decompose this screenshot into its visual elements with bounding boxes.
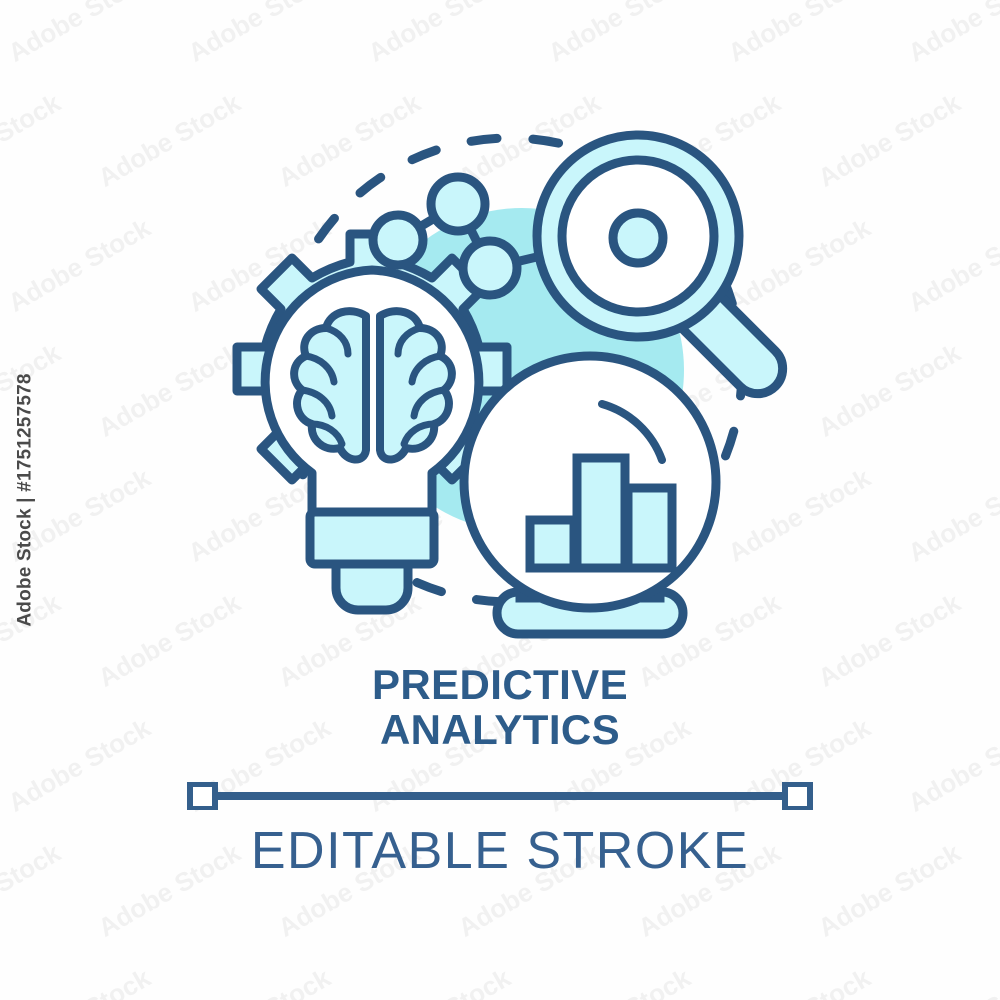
page-title: PREDICTIVE ANALYTICS: [0, 662, 1000, 752]
watermark-text: Adobe Stock: [3, 962, 156, 1000]
watermark-text: Adobe Stock: [543, 962, 696, 1000]
watermark-text: Adobe Stock: [813, 87, 966, 193]
watermark-text: Adobe Stock: [903, 212, 1000, 318]
data-node-1: [373, 215, 423, 265]
predictive-analytics-illustration: [200, 120, 820, 660]
watermark-text: Adobe Stock: [723, 0, 876, 69]
chart-bar-1: [530, 520, 574, 568]
watermark-text: Adobe Stock: [813, 337, 966, 443]
watermark-text: Adobe Stock: [3, 462, 156, 568]
watermark-text: Adobe Stock: [0, 87, 66, 193]
watermark-text: Adobe Stock: [543, 0, 696, 69]
watermark-text: Adobe Stock: [0, 337, 66, 443]
stroke-handle-left[interactable]: [190, 784, 215, 809]
watermark-text: Adobe Stock: [903, 462, 1000, 568]
watermark-text: Adobe Stock: [183, 0, 336, 69]
watermark-text: Adobe Stock: [3, 212, 156, 318]
chart-bar-3: [628, 488, 672, 568]
title-line-2: ANALYTICS: [0, 707, 1000, 752]
lightbulb-collar: [310, 512, 434, 564]
watermark-text: Adobe Stock: [3, 0, 156, 69]
watermark-text: Adobe Stock: [903, 0, 1000, 69]
watermark-text: Adobe Stock: [903, 962, 1000, 1000]
editable-stroke-caption: EDITABLE STROKE: [0, 822, 1000, 880]
watermark-text: Adobe Stock: [363, 962, 516, 1000]
crystal-ball-with-bar-chart: [464, 356, 716, 634]
title-line-1: PREDICTIVE: [0, 662, 1000, 707]
watermark-text: Adobe Stock: [723, 962, 876, 1000]
watermark-text: Adobe Stock: [993, 337, 1000, 443]
data-node-3: [463, 241, 517, 295]
watermark-text: Adobe Stock: [993, 87, 1000, 193]
magnifier-target-node: [613, 213, 663, 263]
watermark-text: Adobe Stock: [183, 962, 336, 1000]
stroke-handle-right[interactable]: [785, 784, 810, 809]
editable-stroke-path-indicator: [185, 782, 815, 810]
lightbulb-tip: [336, 564, 408, 610]
gear-with-lightbulb-brain: [237, 234, 507, 610]
stock-credit-text: Adobe Stock | #1751257578: [15, 373, 37, 626]
canvas-root: Adobe StockAdobe StockAdobe StockAdobe S…: [0, 0, 1000, 1000]
watermark-text: Adobe Stock: [363, 0, 516, 69]
data-node-2: [431, 177, 485, 231]
chart-bar-2: [577, 458, 625, 568]
caption-text: EDITABLE STROKE: [0, 822, 1000, 880]
